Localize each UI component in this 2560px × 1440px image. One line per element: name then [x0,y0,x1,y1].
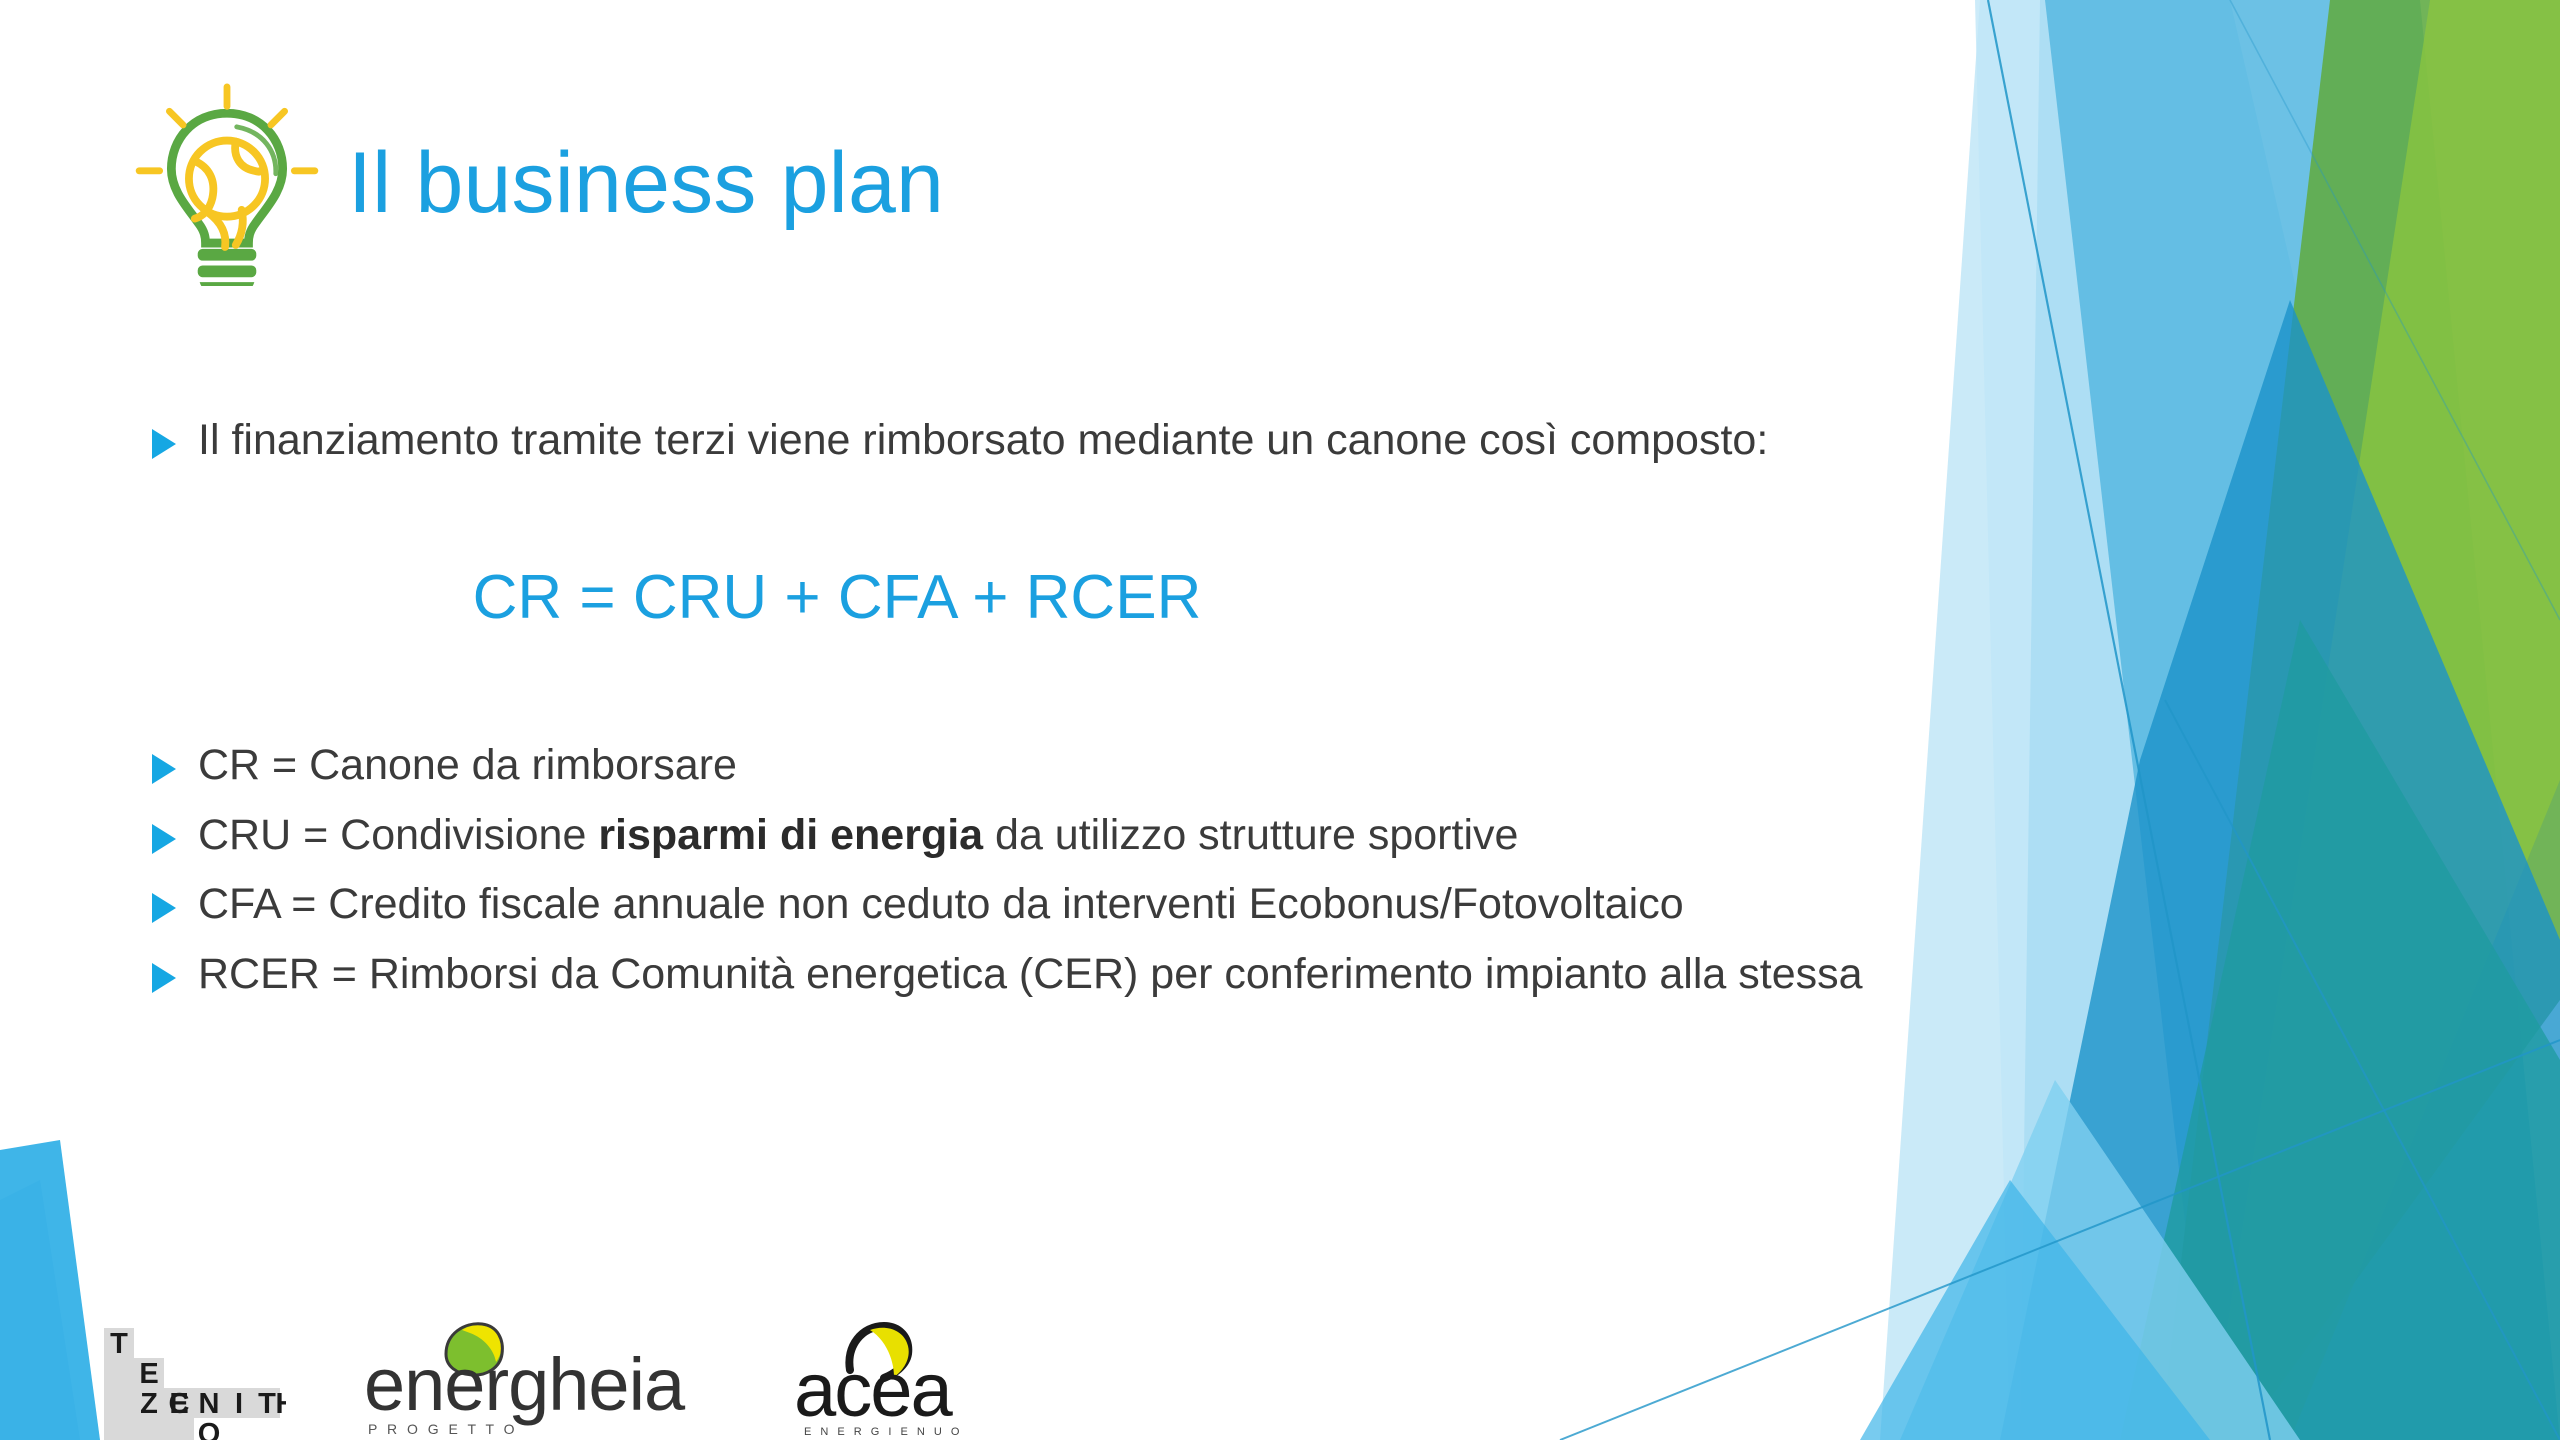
svg-text:energheia: energheia [364,1343,686,1426]
svg-text:T: T [258,1388,276,1420]
footer-logos: T E C O Z E N I T H [0,1270,1100,1440]
bullet-arrow-icon [152,949,198,993]
svg-text:E N E R G I E N U O V E: E N E R G I E N U O V E [804,1426,968,1436]
svg-text:O: O [198,1418,221,1440]
bullet-intro: Il finanziamento tramite terzi viene rim… [152,415,1942,466]
svg-text:I: I [235,1388,243,1420]
formula-text: CR = CRU + CFA + RCER [112,564,1942,632]
bullet-arrow-icon [152,740,198,784]
svg-text:acea: acea [794,1348,954,1433]
list-item-text: CR = Canone da rimborsare [198,740,1942,791]
bullet-arrow-icon [152,879,198,923]
list-item: RCER = Rimborsi da Comunità energetica (… [152,949,1942,1000]
svg-text:H: H [276,1388,286,1420]
lightbulb-icon [132,81,322,286]
list-item: CR = Canone da rimborsare [152,740,1942,791]
svg-text:P R O G E T T O: P R O G E T T O [368,1421,518,1436]
page-title: Il business plan [348,140,944,226]
slide-body: Il finanziamento tramite terzi viene rim… [152,415,1942,1019]
bullet-arrow-icon [152,415,198,459]
tecnozenith-logo: T E C O Z E N I T H [96,1324,286,1440]
slide: Il business plan Il finanziamento tramit… [0,0,2560,1440]
bullet-arrow-icon [152,810,198,854]
definitions-list: CR = Canone da rimborsare CRU = Condivis… [152,740,1942,1000]
list-item: CRU = Condivisione risparmi di energia d… [152,810,1942,861]
spacer [152,472,1942,564]
spacer [152,632,1942,740]
bullet-intro-text: Il finanziamento tramite terzi viene rim… [198,415,1942,466]
svg-text:Z: Z [140,1388,158,1420]
svg-text:E: E [169,1388,188,1420]
energheia-logo: energheia P R O G E T T O [362,1318,692,1436]
list-item-text: CRU = Condivisione risparmi di energia d… [198,810,1942,861]
list-item-text: RCER = Rimborsi da Comunità energetica (… [198,949,1942,1000]
svg-text:T: T [110,1328,128,1360]
acea-logo: acea E N E R G I E N U O V E [790,1318,968,1436]
svg-text:N: N [199,1388,220,1420]
list-item: CFA = Credito fiscale annuale non ceduto… [152,879,1942,930]
title-row: Il business plan [132,78,944,288]
svg-text:E: E [139,1358,158,1390]
list-item-text: CFA = Credito fiscale annuale non ceduto… [198,879,1942,930]
